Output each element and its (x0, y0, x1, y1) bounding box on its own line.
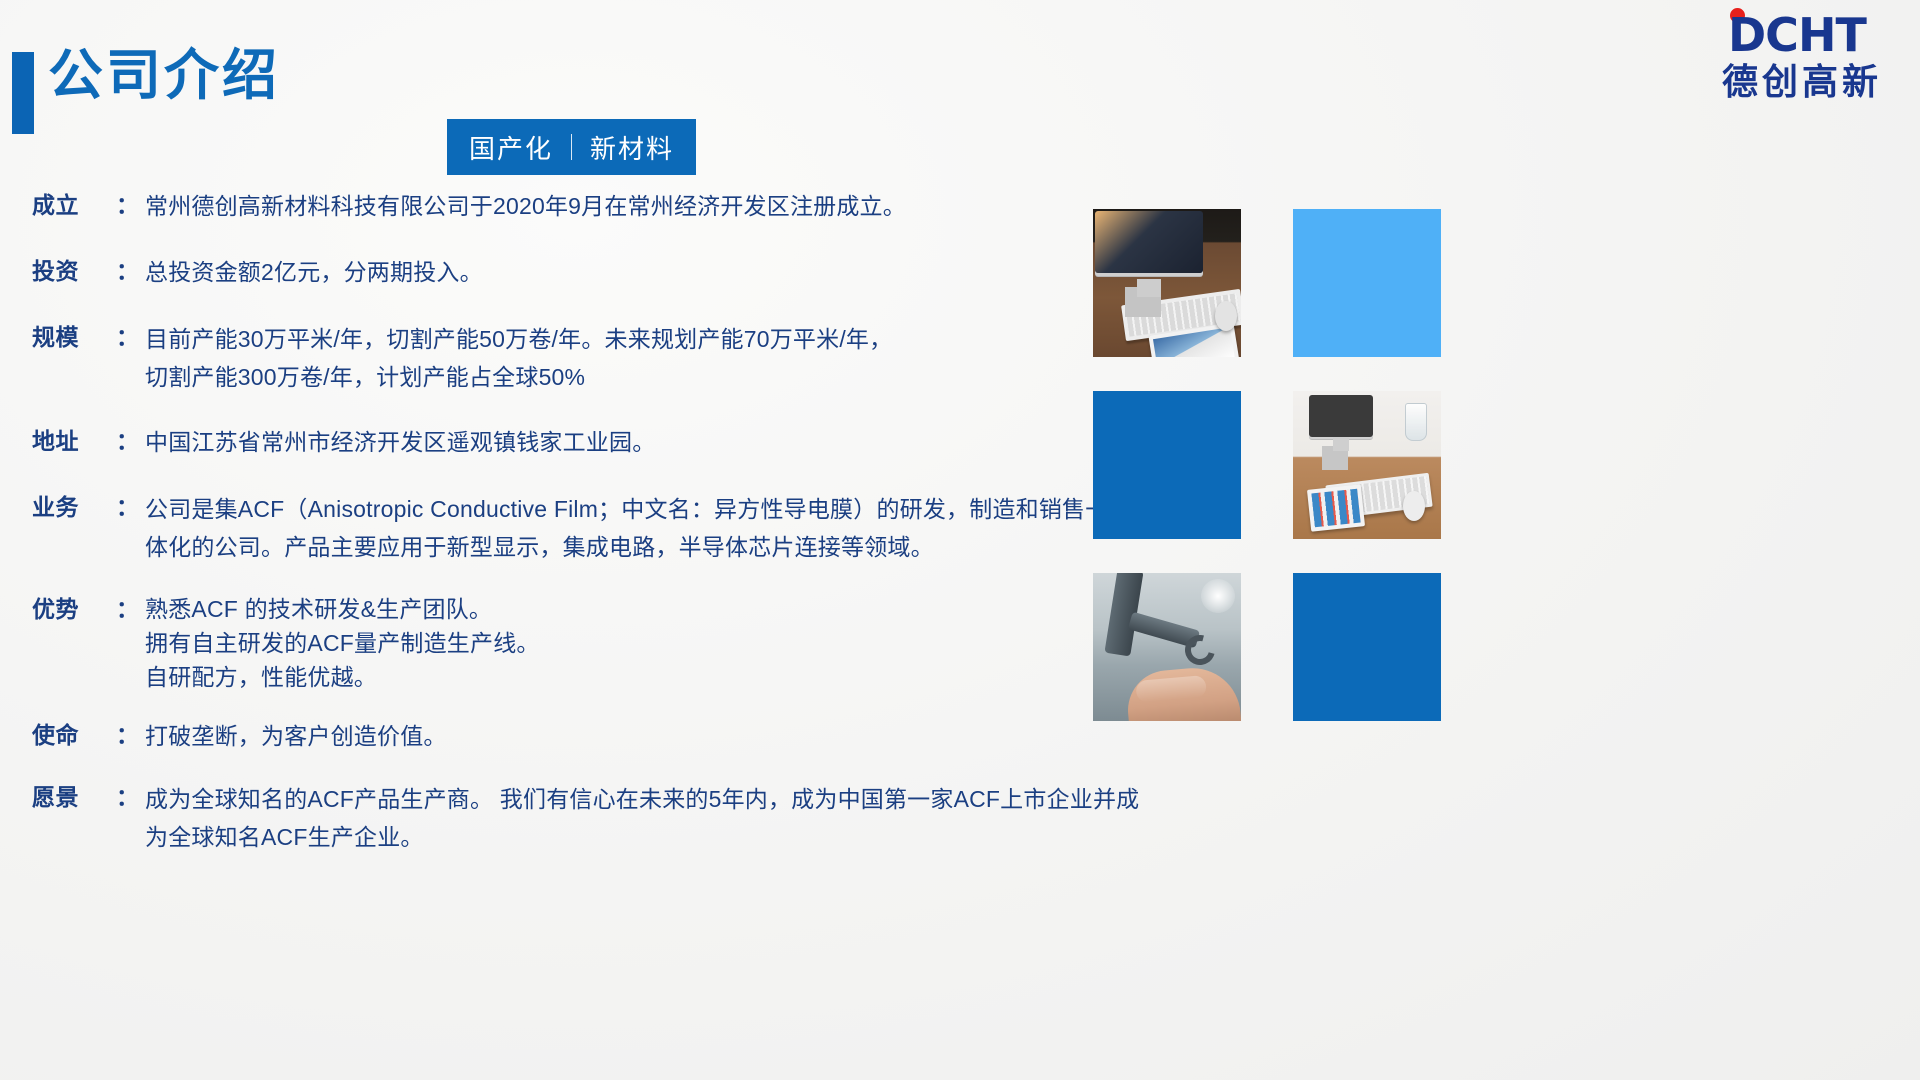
info-row-advantages: 优势 ： 熟悉ACF 的技术研发&生产团队。 拥有自主研发的ACF量产制造生产线… (32, 592, 1092, 694)
light-blue-block (1293, 209, 1441, 357)
info-colon: ： (116, 254, 145, 288)
info-colon: ： (116, 188, 145, 222)
slide-canvas: 公司介绍 DCHT 德创高新 国产化 新材料 成立 ： 常州德创高新材料科技有限… (0, 0, 1920, 1080)
glass-shape (1405, 403, 1427, 441)
info-value: 常州德创高新材料科技有限公司于2020年9月在常州经济开发区注册成立。 (145, 188, 1092, 224)
info-label: 愿景 (32, 780, 116, 814)
info-value: 总投资金额2亿元，分两期投入。 (145, 254, 1092, 290)
info-value: 公司是集ACF（Anisotropic Conductive Film；中文名：… (145, 490, 1108, 566)
calculator-desk-photo (1293, 391, 1441, 539)
logo-wordmark: DCHT (1728, 10, 1866, 60)
mouse-shape (1403, 491, 1425, 521)
info-label: 业务 (32, 490, 116, 524)
info-value: 打破垄断，为客户创造价值。 (145, 718, 1092, 754)
blue-block (1093, 391, 1241, 539)
calculator-shape (1307, 484, 1365, 531)
info-line: 打破垄断，为客户创造价值。 (145, 718, 1092, 754)
info-line: 成为全球知名的ACF产品生产商。 我们有信心在未来的5年内，成为中国第一家ACF… (145, 780, 1139, 818)
info-label: 规模 (32, 320, 116, 354)
info-row-scale: 规模 ： 目前产能30万平米/年，切割产能50万卷/年。未来规划产能70万平米/… (32, 320, 1092, 396)
company-info-list: 成立 ： 常州德创高新材料科技有限公司于2020年9月在常州经济开发区注册成立。… (32, 188, 1092, 856)
info-colon: ： (116, 424, 145, 458)
info-label: 使命 (32, 718, 116, 752)
info-row-mission: 使命 ： 打破垄断，为客户创造价值。 (32, 718, 1092, 754)
info-row-vision: 愿景 ： 成为全球知名的ACF产品生产商。 我们有信心在未来的5年内，成为中国第… (32, 780, 1092, 856)
info-line: 目前产能30万平米/年，切割产能50万卷/年。未来规划产能70万平米/年， (145, 320, 1092, 358)
company-logo: DCHT 德创高新 (1706, 8, 1898, 108)
logo-chinese-name: 德创高新 (1722, 60, 1882, 104)
info-label: 成立 (32, 188, 116, 222)
title-accent-bar (12, 52, 34, 134)
info-row-address: 地址 ： 中国江苏省常州市经济开发区遥观镇钱家工业园。 (32, 424, 1092, 460)
info-colon: ： (116, 592, 145, 626)
info-line: 公司是集ACF（Anisotropic Conductive Film；中文名：… (145, 490, 1108, 528)
blue-block (1293, 573, 1441, 721)
robot-arm-photo (1093, 573, 1241, 721)
imac-desk-photo (1093, 209, 1241, 357)
info-line: 中国江苏省常州市经济开发区遥观镇钱家工业园。 (145, 424, 1092, 460)
info-value: 成为全球知名的ACF产品生产商。 我们有信心在未来的5年内，成为中国第一家ACF… (145, 780, 1139, 856)
info-line: 切割产能300万卷/年，计划产能占全球50% (145, 358, 1092, 396)
info-colon: ： (116, 718, 145, 752)
info-row-founding: 成立 ： 常州德创高新材料科技有限公司于2020年9月在常州经济开发区注册成立。 (32, 188, 1092, 224)
mouse-shape (1215, 301, 1237, 331)
info-line: 熟悉ACF 的技术研发&生产团队。 (145, 592, 1092, 626)
info-row-business: 业务 ： 公司是集ACF（Anisotropic Conductive Film… (32, 490, 1092, 566)
media-grid (1093, 209, 1441, 721)
tagline-left-text: 国产化 (451, 129, 571, 166)
page-title: 公司介绍 (48, 47, 280, 105)
info-value: 熟悉ACF 的技术研发&生产团队。 拥有自主研发的ACF量产制造生产线。 自研配… (145, 592, 1092, 694)
info-colon: ： (116, 320, 145, 354)
info-label: 地址 (32, 424, 116, 458)
info-label: 优势 (32, 592, 116, 626)
info-line: 总投资金额2亿元，分两期投入。 (145, 254, 1092, 290)
info-line: 体化的公司。产品主要应用于新型显示，集成电路，半导体芯片连接等领域。 (145, 528, 1108, 566)
logo-wordmark-row: DCHT (1706, 8, 1898, 60)
monitor-shape (1309, 395, 1373, 437)
human-hand (1125, 664, 1241, 721)
info-label: 投资 (32, 254, 116, 288)
info-value: 中国江苏省常州市经济开发区遥观镇钱家工业园。 (145, 424, 1092, 460)
info-line: 拥有自主研发的ACF量产制造生产线。 (145, 626, 1092, 660)
light-glare (1201, 579, 1235, 613)
tagline-banner: 国产化 新材料 (447, 119, 696, 175)
info-colon: ： (116, 490, 145, 524)
info-line: 常州德创高新材料科技有限公司于2020年9月在常州经济开发区注册成立。 (145, 188, 1092, 224)
tagline-right-text: 新材料 (572, 129, 692, 166)
tagline-separator-icon (571, 134, 572, 160)
info-value: 目前产能30万平米/年，切割产能50万卷/年。未来规划产能70万平米/年， 切割… (145, 320, 1092, 396)
info-row-investment: 投资 ： 总投资金额2亿元，分两期投入。 (32, 254, 1092, 290)
info-colon: ： (116, 780, 145, 814)
info-line: 为全球知名ACF生产企业。 (145, 818, 1139, 856)
info-line: 自研配方，性能优越。 (145, 660, 1092, 694)
